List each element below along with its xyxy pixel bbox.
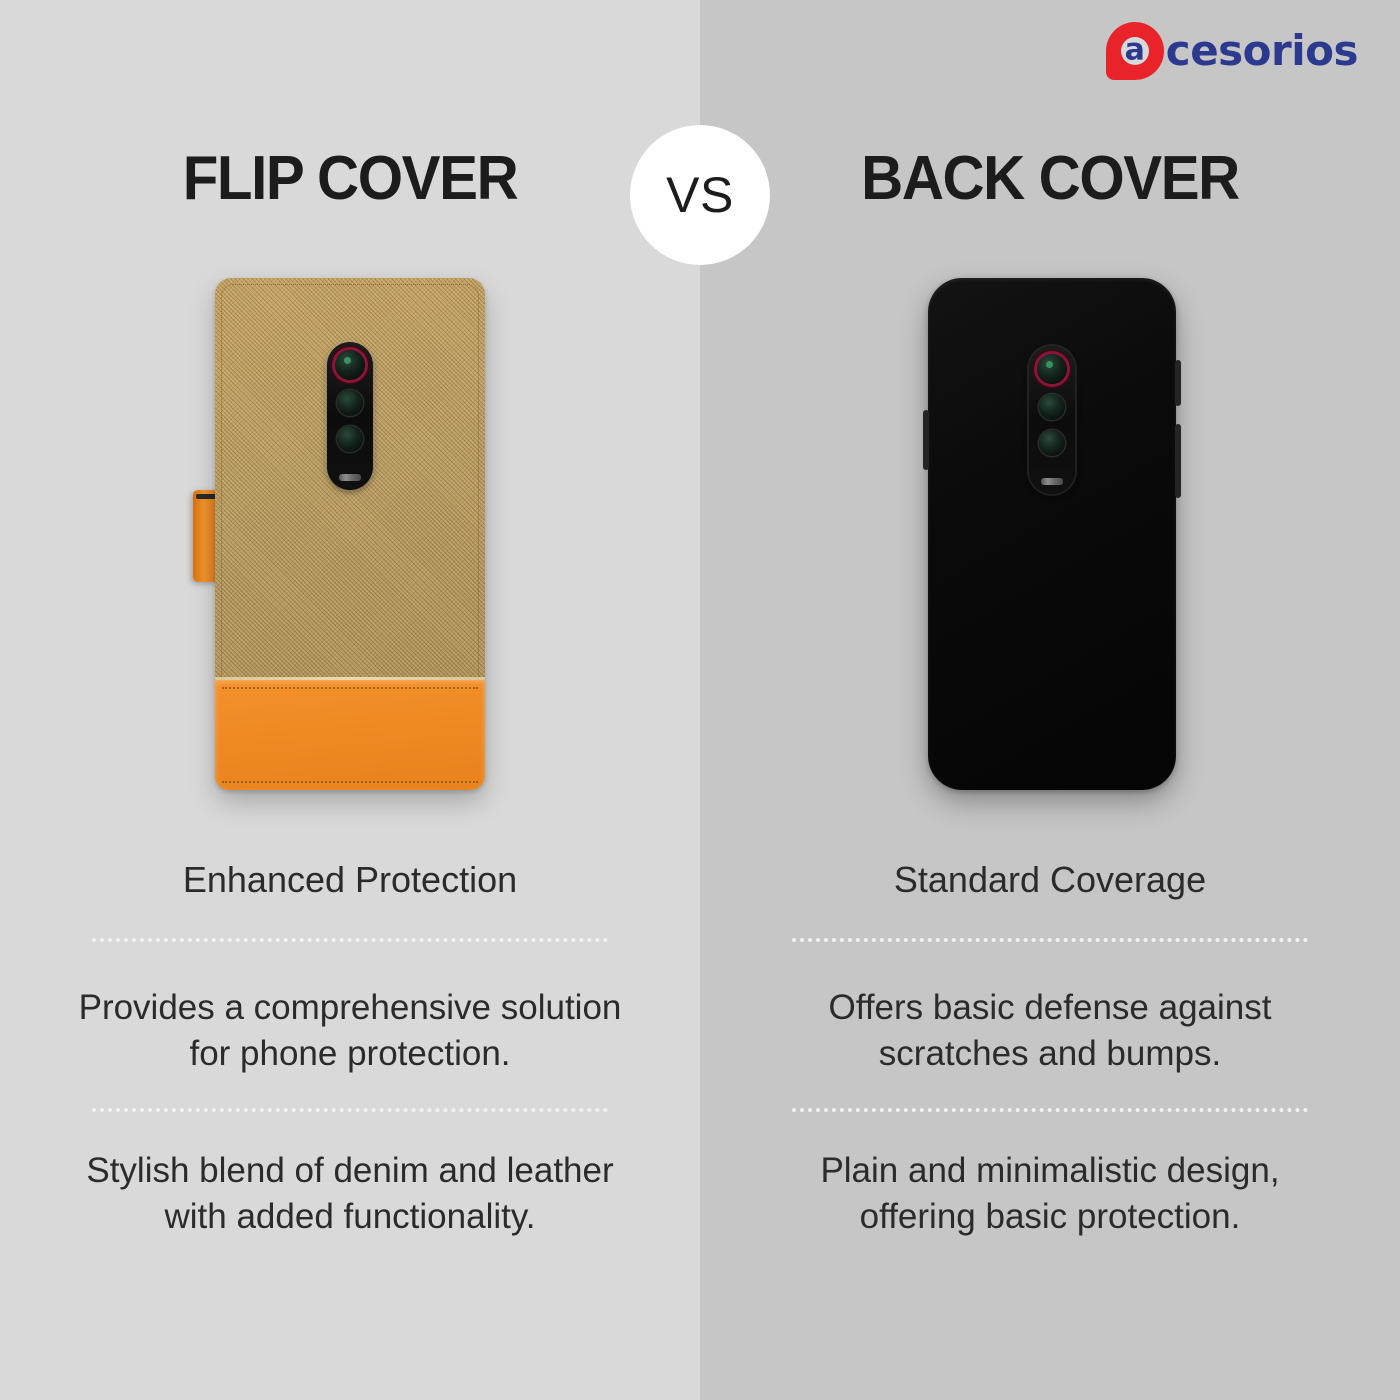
flash-icon xyxy=(339,474,361,481)
flip-cover-product-image xyxy=(215,278,485,790)
subtitle-enhanced-protection: Enhanced Protection xyxy=(0,858,700,901)
feature-text: Plain and minimalistic design, offering … xyxy=(700,1148,1400,1240)
camera-module-icon xyxy=(1029,346,1075,494)
location-pin-a-icon: a xyxy=(1106,22,1164,80)
heading-back-cover: BACK COVER xyxy=(721,148,1379,210)
brand-logo[interactable]: a cesorios xyxy=(1106,22,1358,80)
main-lens-icon xyxy=(1037,354,1067,384)
flash-icon xyxy=(1041,478,1063,485)
sim-tray-cutout xyxy=(923,410,929,470)
camera-module-icon xyxy=(327,342,373,490)
right-feature-row-2: Plain and minimalistic design, offering … xyxy=(700,1148,1400,1240)
left-subtitle-row: Enhanced Protection xyxy=(0,858,700,901)
feature-text: Offers basic defense against scratches a… xyxy=(700,985,1400,1077)
subtitle-standard-coverage: Standard Coverage xyxy=(700,858,1400,901)
brand-name: cesorios xyxy=(1166,30,1358,72)
flip-cover-leather-band xyxy=(215,680,485,790)
feature-text: Stylish blend of denim and leather with … xyxy=(0,1148,700,1240)
divider-right-2 xyxy=(792,1108,1308,1112)
volume-button-cutout xyxy=(1175,360,1181,406)
logo-letter: a xyxy=(1125,35,1145,65)
heading-flip-cover: FLIP COVER xyxy=(21,148,679,210)
tertiary-lens-icon xyxy=(337,426,363,452)
tertiary-lens-icon xyxy=(1039,430,1065,456)
secondary-lens-icon xyxy=(1039,394,1065,420)
vs-badge: VS xyxy=(630,125,770,265)
feature-text: Provides a comprehensive solution for ph… xyxy=(0,985,700,1077)
divider-left-1 xyxy=(92,938,608,942)
right-feature-row-1: Offers basic defense against scratches a… xyxy=(700,985,1400,1077)
back-cover-product-image xyxy=(928,278,1176,790)
left-feature-row-1: Provides a comprehensive solution for ph… xyxy=(0,985,700,1077)
main-lens-icon xyxy=(335,350,365,380)
comparison-infographic: a cesorios FLIP COVER BACK COVER VS E xyxy=(0,0,1400,1400)
divider-left-2 xyxy=(92,1108,608,1112)
right-subtitle-row: Standard Coverage xyxy=(700,858,1400,901)
divider-right-1 xyxy=(792,938,1308,942)
secondary-lens-icon xyxy=(337,390,363,416)
left-feature-row-2: Stylish blend of denim and leather with … xyxy=(0,1148,700,1240)
power-button-cutout xyxy=(1175,424,1181,498)
